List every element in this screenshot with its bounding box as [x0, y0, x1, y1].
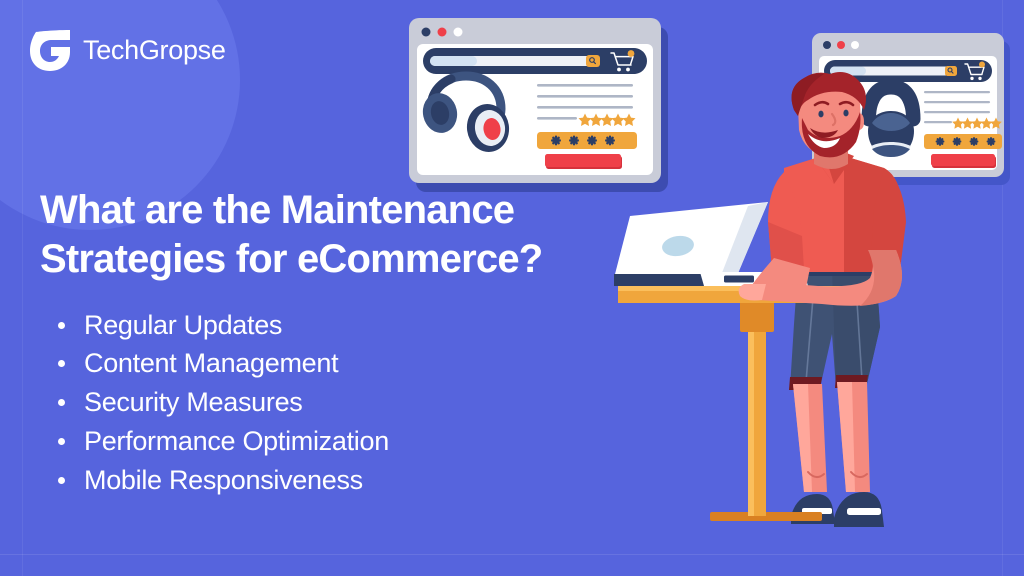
slide-canvas: TechGropse What are the Maintenance Stra…	[0, 0, 1024, 576]
eye-left	[818, 111, 823, 118]
bullet-dot-icon	[58, 360, 65, 367]
background-edge-line-left	[22, 0, 23, 576]
shoe-right-stripe	[847, 508, 881, 515]
traffic-light-dot-3	[851, 41, 859, 49]
desk-post-highlight	[748, 304, 754, 516]
brand-name: TechGropse	[83, 35, 226, 66]
list-item: Content Management	[52, 344, 660, 383]
search-input-caret-block	[430, 56, 477, 66]
cart-wheel-left	[970, 77, 973, 80]
list-item: Performance Optimization	[52, 422, 660, 461]
detail-line	[924, 121, 952, 123]
bullet-dot-icon	[58, 322, 65, 329]
cta-button	[931, 154, 995, 166]
detail-line	[537, 117, 577, 120]
laptop-key-block-1	[724, 276, 754, 283]
traffic-light-dot-1	[823, 41, 831, 49]
cart-wheel-right	[978, 77, 981, 80]
bullet-dot-icon	[58, 438, 65, 445]
leg-right-highlight	[837, 382, 855, 492]
search-button	[945, 66, 957, 76]
list-item-label: Mobile Responsiveness	[84, 465, 363, 495]
traffic-light-dot-2	[837, 41, 845, 49]
list-item: Security Measures	[52, 383, 660, 422]
list-item-label: Regular Updates	[84, 310, 282, 340]
cart-badge	[979, 62, 985, 68]
traffic-light-dot-2	[438, 28, 447, 37]
detail-line	[924, 91, 990, 93]
detail-line	[924, 101, 990, 103]
content-block: What are the Maintenance Strategies for …	[40, 186, 660, 500]
search-button	[586, 55, 600, 67]
character-head	[792, 72, 866, 169]
list-item: Regular Updates	[52, 306, 660, 345]
detail-line	[924, 111, 990, 113]
page-title: What are the Maintenance Strategies for …	[40, 186, 620, 284]
list-item: Mobile Responsiveness	[52, 461, 660, 500]
desk-post-collar	[740, 300, 774, 332]
bullet-dot-icon	[58, 477, 65, 484]
strategy-list: Regular Updates Content Management Secur…	[40, 306, 660, 500]
list-item-label: Security Measures	[84, 387, 302, 417]
cart-badge	[628, 50, 635, 57]
cart-wheel-left	[617, 68, 621, 72]
traffic-light-dot-3	[454, 28, 463, 37]
eye-right	[843, 110, 848, 117]
traffic-light-dot-1	[422, 28, 431, 37]
hand-left	[739, 284, 766, 301]
list-item-label: Content Management	[84, 348, 338, 378]
cart-wheel-right	[626, 68, 630, 72]
techgropse-g-mark-icon	[26, 26, 74, 74]
bullet-dot-icon	[58, 399, 65, 406]
brand-logo[interactable]: TechGropse	[26, 26, 226, 74]
list-item-label: Performance Optimization	[84, 426, 389, 456]
